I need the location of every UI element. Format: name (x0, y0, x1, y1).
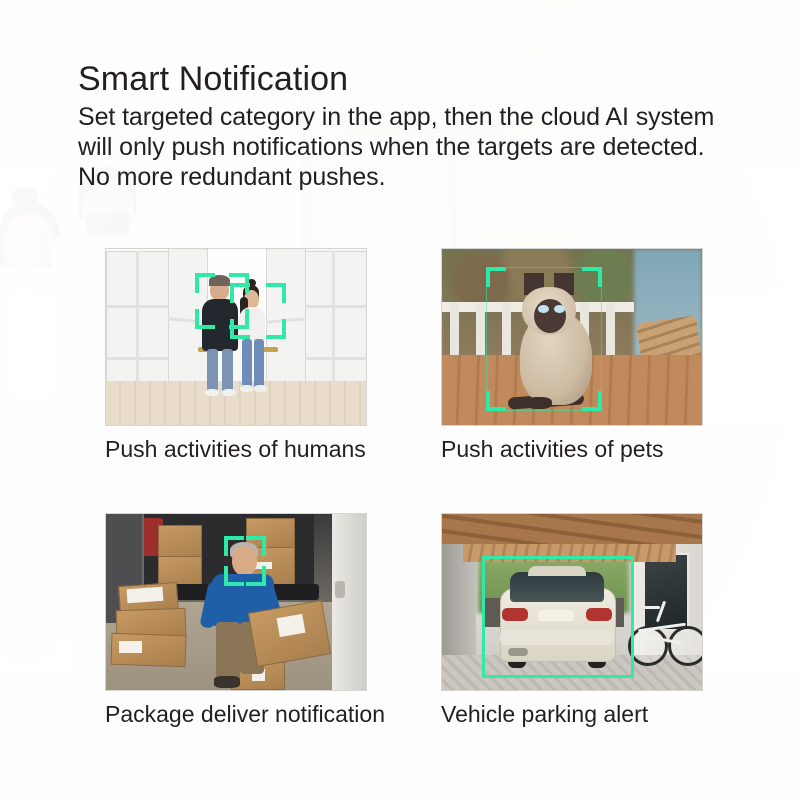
description-line-1: Set targeted category in the app, then t… (78, 102, 784, 132)
van-door-right (332, 514, 366, 690)
scene-floor (106, 381, 366, 425)
scene-carport (442, 514, 702, 690)
card-row-top: Push activities of humans (105, 248, 675, 463)
description-line-3: No more redundant pushes. (78, 162, 784, 192)
thumbnail-humans[interactable] (105, 248, 367, 426)
header-text-block: Smart Notification Set targeted category… (78, 58, 784, 192)
thumbnail-pets[interactable] (441, 248, 703, 426)
card-vehicle[interactable]: Vehicle parking alert (441, 513, 703, 728)
house-window (643, 553, 689, 631)
scene-delivery-van (106, 514, 366, 690)
scene-deck (442, 249, 702, 425)
card-caption-pets: Push activities of pets (441, 435, 703, 463)
scene-french-doors (106, 249, 366, 425)
feature-card-grid: Push activities of humans (105, 248, 675, 728)
thumbnail-package[interactable] (105, 513, 367, 691)
carport-beam (442, 514, 702, 544)
thumbnail-vehicle[interactable] (441, 513, 703, 691)
card-row-bottom: Package deliver notification (105, 513, 675, 728)
description-line-2: will only push notifications when the ta… (78, 132, 784, 162)
card-caption-vehicle: Vehicle parking alert (441, 700, 703, 728)
page-title: Smart Notification (78, 58, 784, 100)
card-humans[interactable]: Push activities of humans (105, 248, 367, 463)
card-caption-humans: Push activities of humans (105, 435, 367, 463)
card-caption-package: Package deliver notification (105, 700, 367, 728)
card-pets[interactable]: Push activities of pets (441, 248, 703, 463)
card-package[interactable]: Package deliver notification (105, 513, 367, 728)
